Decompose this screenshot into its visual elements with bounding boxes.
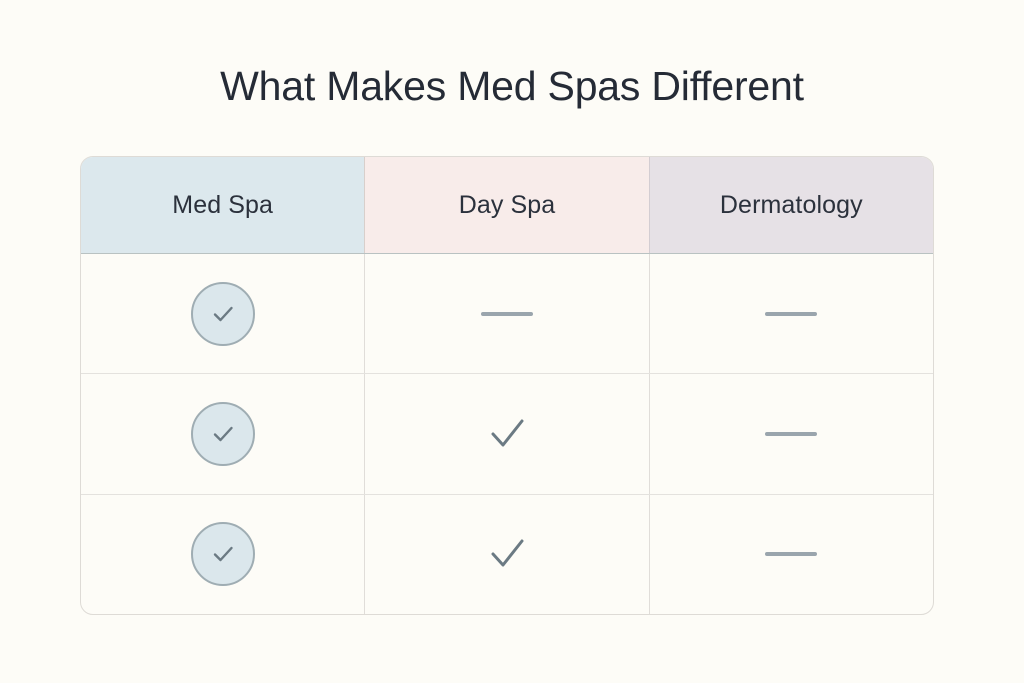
table-row	[81, 254, 933, 374]
dash-icon	[481, 312, 533, 316]
cell-dermatology	[649, 495, 933, 614]
check-icon	[484, 531, 530, 577]
circled-check-icon	[191, 522, 255, 586]
column-header-day-spa: Day Spa	[364, 157, 648, 253]
table-row	[81, 374, 933, 494]
cell-dermatology	[649, 374, 933, 493]
cell-med-spa	[81, 254, 364, 373]
table-header-row: Med Spa Day Spa Dermatology	[81, 157, 933, 254]
cell-dermatology	[649, 254, 933, 373]
cell-day-spa	[364, 495, 648, 614]
table-row	[81, 495, 933, 614]
column-header-label: Dermatology	[720, 191, 863, 220]
comparison-infographic: What Makes Med Spas Different Med Spa Da…	[0, 0, 1024, 683]
cell-day-spa	[364, 374, 648, 493]
circled-check-icon	[191, 402, 255, 466]
table-body	[81, 254, 933, 614]
cell-med-spa	[81, 374, 364, 493]
cell-med-spa	[81, 495, 364, 614]
dash-icon	[765, 552, 817, 556]
dash-icon	[765, 312, 817, 316]
comparison-table: Med Spa Day Spa Dermatology	[80, 156, 934, 615]
column-header-dermatology: Dermatology	[649, 157, 933, 253]
circled-check-icon	[191, 282, 255, 346]
cell-day-spa	[364, 254, 648, 373]
column-header-label: Day Spa	[459, 191, 556, 220]
dash-icon	[765, 432, 817, 436]
page-title: What Makes Med Spas Different	[0, 63, 1024, 110]
check-icon	[484, 411, 530, 457]
column-header-med-spa: Med Spa	[81, 157, 364, 253]
column-header-label: Med Spa	[172, 191, 273, 220]
